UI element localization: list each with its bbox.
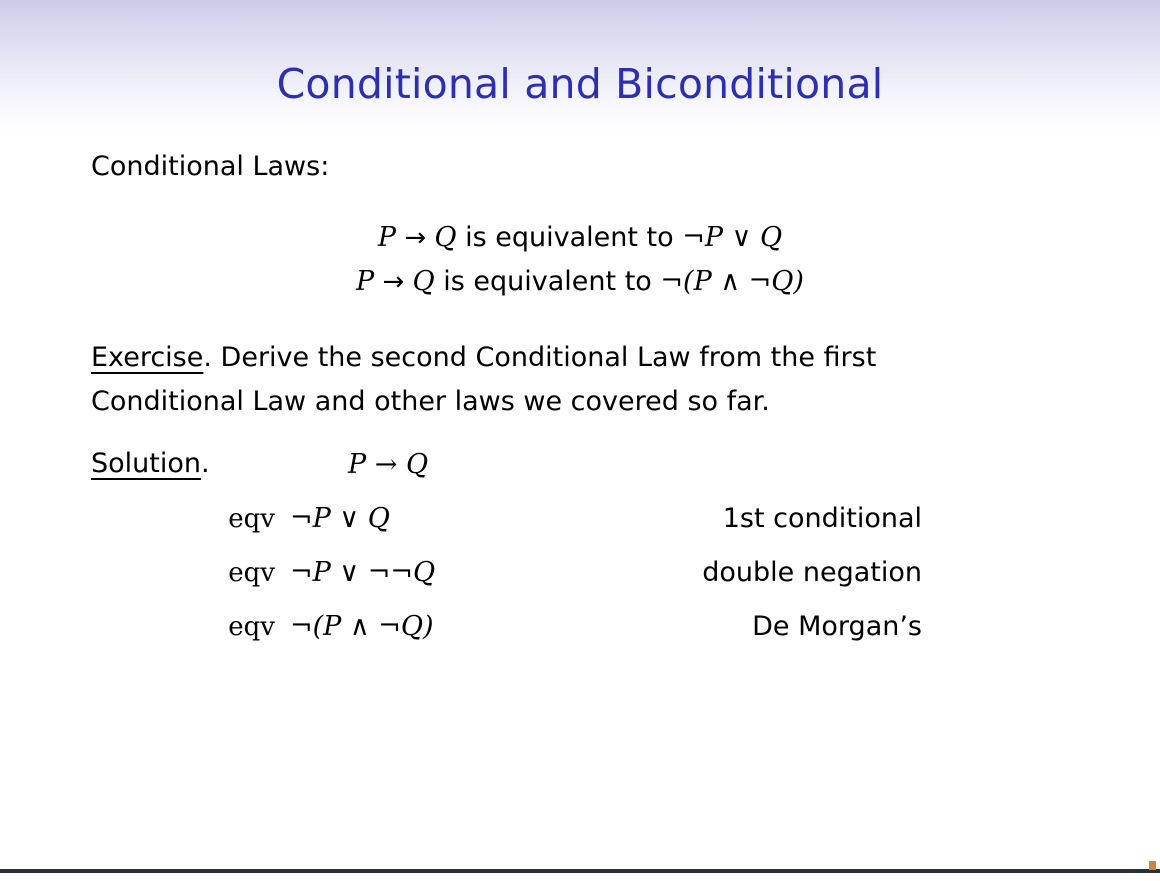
conditional-law-2: P → Q is equivalent to ¬(P ∧ ¬Q) <box>0 260 1160 304</box>
law1-connector: is equivalent to <box>465 222 674 253</box>
footer-divider <box>0 869 1160 873</box>
derivation-formula: ¬P ∨ ¬¬Q <box>290 546 435 600</box>
derivation-relation: eqv <box>150 546 275 600</box>
derivation-reason: 1st conditional <box>600 492 922 546</box>
page-corner-mark <box>1149 861 1156 870</box>
law2-rhs: ¬(P ∧ ¬Q) <box>660 266 804 297</box>
derivation-row: eqv ¬(P ∧ ¬Q) De Morgan’s <box>0 600 1160 654</box>
law1-antecedent: P <box>378 222 396 253</box>
law1-consequent: Q <box>434 222 456 253</box>
derivation-table: P → Q eqv ¬P ∨ Q 1st conditional eqv ¬P … <box>0 438 1160 654</box>
derivation-row: eqv ¬P ∨ ¬¬Q double negation <box>0 546 1160 600</box>
law2-consequent: Q <box>413 266 435 297</box>
slide-canvas: Conditional and Biconditional Conditiona… <box>0 0 1160 881</box>
law2-antecedent: P <box>356 266 374 297</box>
exercise-label: Exercise <box>91 342 203 373</box>
derivation-reason: double negation <box>600 546 922 600</box>
derivation-formula: ¬(P ∧ ¬Q) <box>290 600 434 654</box>
derivation-row: P → Q <box>0 438 1160 492</box>
derivation-formula: P → Q <box>348 438 428 492</box>
law1-rhs: ¬P ∨ Q <box>682 222 782 253</box>
derivation-reason: De Morgan’s <box>600 600 922 654</box>
conditional-laws-equations: P → Q is equivalent to ¬P ∨ Q P → Q is e… <box>0 216 1160 303</box>
page-title: Conditional and Biconditional <box>0 62 1160 107</box>
derivation-relation: eqv <box>150 492 275 546</box>
law2-connector: is equivalent to <box>443 266 652 297</box>
conditional-laws-heading: Conditional Laws: <box>91 145 329 189</box>
derivation-formula: ¬P ∨ Q <box>290 492 390 546</box>
law1-arrow-icon: → <box>404 223 426 253</box>
derivation-relation: eqv <box>150 600 275 654</box>
exercise-paragraph: Exercise. Derive the second Conditional … <box>91 336 971 423</box>
law2-arrow-icon: → <box>382 267 404 297</box>
derivation-row: eqv ¬P ∨ Q 1st conditional <box>0 492 1160 546</box>
exercise-label-period: . <box>203 342 212 373</box>
conditional-law-1: P → Q is equivalent to ¬P ∨ Q <box>0 216 1160 260</box>
